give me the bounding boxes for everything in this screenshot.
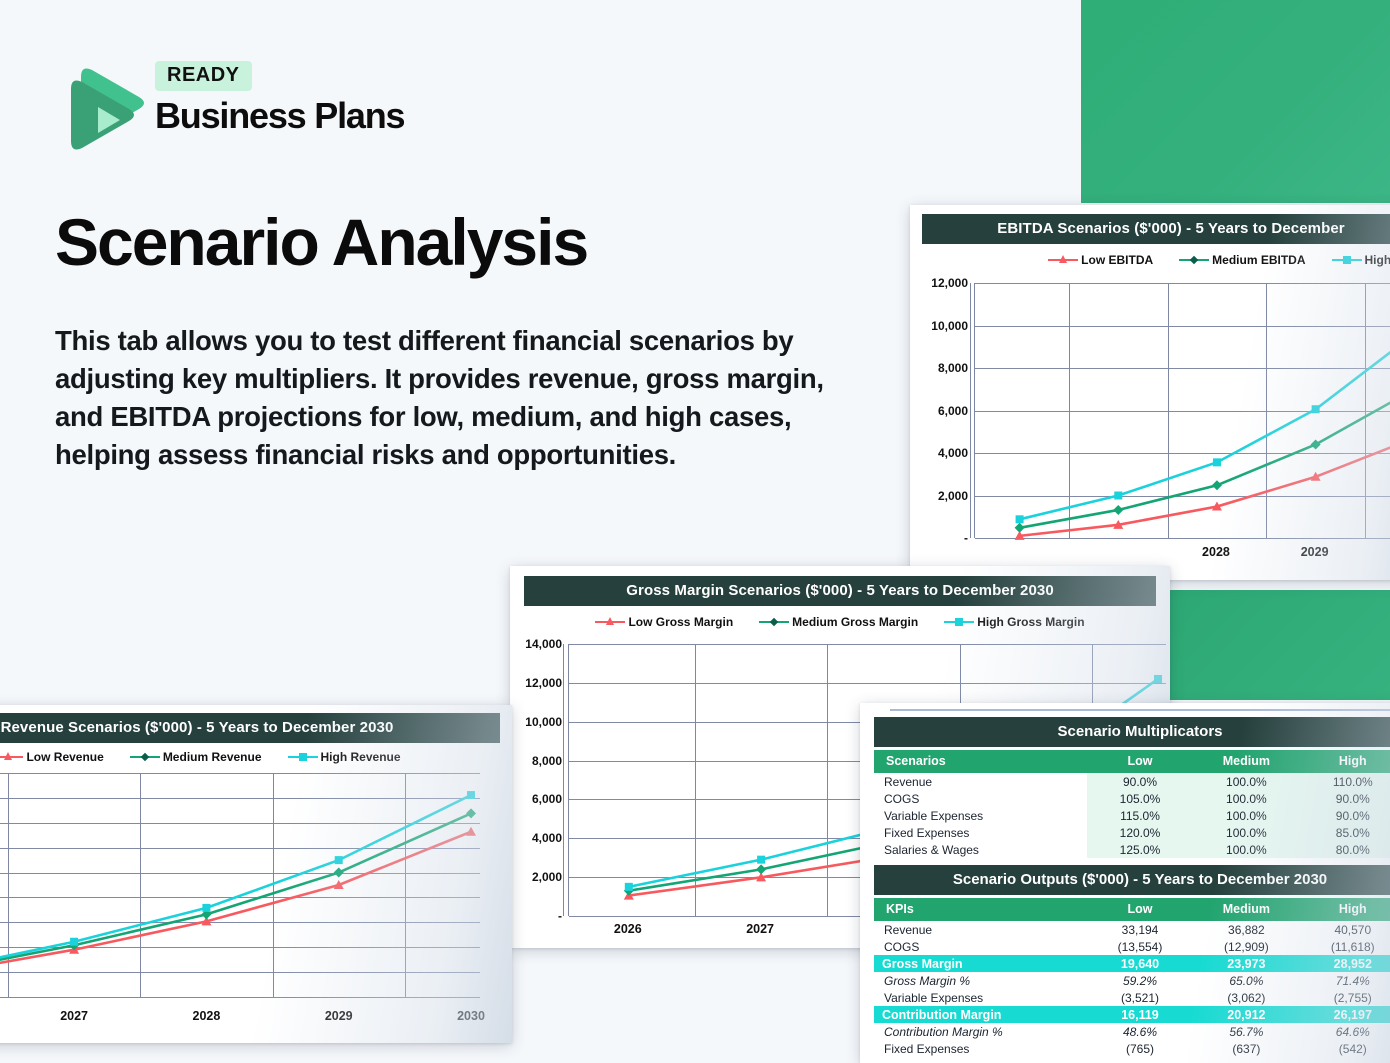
row-label: COGS	[874, 790, 1087, 807]
data-point-marker	[70, 938, 78, 946]
table-row: Gross Margin19,64023,97328,952	[874, 955, 1390, 972]
cell-high: 26,197	[1300, 1006, 1390, 1023]
legend-label: Medium EBITDA	[1212, 253, 1305, 267]
legend-marker-square-icon	[1332, 255, 1362, 265]
cell-low: 90.0%	[1087, 773, 1193, 790]
cell-high: 90.0%	[1300, 790, 1390, 807]
y-axis-tick-label: -	[964, 531, 968, 545]
column-header-low: Low	[1087, 750, 1193, 773]
scenario-multiplicators-banner: Scenario Multiplicators	[874, 717, 1390, 747]
y-axis-tick-label: 4,000	[532, 831, 562, 845]
cell-medium: 20,912	[1193, 1006, 1299, 1023]
cell-low: (3,521)	[1087, 989, 1193, 1006]
cell-medium: 65.0%	[1193, 972, 1299, 989]
series-line-square	[1020, 334, 1390, 519]
x-axis-tick-label: 2027	[746, 922, 774, 936]
column-header-medium: Medium	[1193, 898, 1299, 921]
revenue-plot-area	[0, 773, 480, 997]
cell-low: 125.0%	[1087, 841, 1193, 858]
ebitda-chart-card[interactable]: EBITDA Scenarios ($'000) - 5 Years to De…	[910, 205, 1390, 580]
ebitda-chart-title: EBITDA Scenarios ($'000) - 5 Years to De…	[922, 214, 1390, 244]
gross-margin-y-axis-labels: -2,0004,0006,0008,00010,00012,00014,000	[510, 644, 562, 916]
ebitda-plot-area	[974, 283, 1390, 538]
data-point-marker	[1311, 440, 1321, 450]
scenario-outputs-banner: Scenario Outputs ($'000) - 5 Years to De…	[874, 865, 1390, 895]
ready-badge: READY	[155, 61, 252, 91]
data-point-marker	[756, 864, 766, 874]
cell-high: 80.0%	[1300, 841, 1390, 858]
y-axis-tick-label: 2,000	[532, 870, 562, 884]
cell-medium: 100.0%	[1193, 807, 1299, 824]
column-header-medium: Medium	[1193, 750, 1299, 773]
cell-high: 85.0%	[1300, 824, 1390, 841]
legend-label: Low Revenue	[26, 750, 103, 764]
data-point-marker	[334, 868, 344, 878]
row-label: Revenue	[874, 773, 1087, 790]
data-point-marker	[625, 883, 633, 891]
table-row: Variable Expenses(3,521)(3,062)(2,755)	[874, 989, 1390, 1006]
data-point-marker	[466, 827, 476, 836]
x-axis-tick-label: 2029	[325, 1009, 353, 1023]
legend-item-high-revenue: High Revenue	[288, 750, 401, 764]
data-point-marker	[1312, 405, 1320, 413]
table-row: Variable Expenses115.0%100.0%90.0%	[874, 807, 1390, 824]
legend-label: High Revenue	[321, 750, 401, 764]
y-axis-tick-label: 10,000	[931, 319, 968, 333]
x-axis-tick-label: 2029	[1301, 545, 1329, 559]
cell-medium: (3,062)	[1193, 989, 1299, 1006]
chart-series-layer	[0, 773, 480, 997]
legend-label: Low EBITDA	[1081, 253, 1153, 267]
legend-marker-triangle-icon	[595, 617, 625, 627]
legend-label: Medium Gross Margin	[792, 615, 918, 629]
legend-marker-triangle-icon	[1048, 255, 1078, 265]
series-line-diamond	[0, 813, 471, 971]
legend-marker-square-icon	[944, 617, 974, 627]
cell-medium: 36,882	[1193, 921, 1299, 938]
legend-item-medium-revenue: Medium Revenue	[130, 750, 262, 764]
data-point-marker	[1154, 675, 1162, 683]
cell-low: 59.2%	[1087, 972, 1193, 989]
cell-high: 28,952	[1300, 955, 1390, 972]
chart-gridline	[975, 538, 1390, 539]
chart-gridline	[0, 997, 480, 998]
gross-margin-chart-title: Gross Margin Scenarios ($'000) - 5 Years…	[524, 576, 1156, 606]
legend-marker-diamond-icon	[130, 752, 160, 762]
table-row: COGS(13,554)(12,909)(11,618)	[874, 938, 1390, 955]
cell-medium: 100.0%	[1193, 824, 1299, 841]
legend-item-medium-gross-margin: Medium Gross Margin	[759, 615, 918, 629]
revenue-x-axis-labels: 20262027202820292030	[0, 1009, 480, 1029]
y-axis-tick-label: -	[558, 909, 562, 923]
row-label: Gross Margin	[874, 955, 1087, 972]
y-axis-tick-label: 10,000	[525, 715, 562, 729]
cell-high: 90.0%	[1300, 807, 1390, 824]
cell-medium: 56.7%	[1193, 1023, 1299, 1040]
ebitda-plot: -2,0004,0006,0008,00010,00012,000 202820…	[910, 283, 1390, 563]
data-point-marker	[466, 808, 476, 818]
y-axis-tick-label: 14,000	[525, 637, 562, 651]
legend-item-low-gross-margin: Low Gross Margin	[595, 615, 733, 629]
chart-category-divider	[563, 644, 564, 916]
page-description: This tab allows you to test different fi…	[55, 322, 855, 474]
scenario-multiplicators-table: Scenarios Low Medium High Revenue90.0%10…	[874, 750, 1390, 858]
decorative-green-block-mid-right	[1170, 590, 1390, 700]
y-axis-tick-label: 12,000	[525, 676, 562, 690]
scenario-outputs-table: KPIs Low Medium High Revenue33,19436,882…	[874, 898, 1390, 1057]
cell-medium: 100.0%	[1193, 773, 1299, 790]
cell-medium: 100.0%	[1193, 790, 1299, 807]
page-title: Scenario Analysis	[55, 208, 587, 277]
y-axis-tick-label: 4,000	[938, 446, 968, 460]
data-point-marker	[335, 856, 343, 864]
data-point-marker	[1114, 492, 1122, 500]
row-label: Fixed Expenses	[874, 824, 1087, 841]
legend-label: Medium Revenue	[163, 750, 262, 764]
table-row: Contribution Margin16,11920,91226,197	[874, 1006, 1390, 1023]
gross-margin-chart-legend: Low Gross Margin Medium Gross Margin Hig…	[510, 615, 1170, 629]
chart-series-layer	[975, 283, 1390, 538]
table-row: Revenue33,19436,88240,570	[874, 921, 1390, 938]
revenue-chart-card[interactable]: Revenue Scenarios ($'000) - 5 Years to D…	[0, 705, 512, 1043]
row-label: Contribution Margin %	[874, 1023, 1087, 1040]
legend-marker-square-icon	[288, 752, 318, 762]
x-axis-tick-label: 2028	[193, 1009, 221, 1023]
cell-high: 71.4%	[1300, 972, 1390, 989]
cell-high: 40,570	[1300, 921, 1390, 938]
row-label: Gross Margin %	[874, 972, 1087, 989]
x-axis-tick-label: 2028	[1202, 545, 1230, 559]
cell-medium: (12,909)	[1193, 938, 1299, 955]
data-point-marker	[1016, 515, 1024, 523]
y-axis-tick-label: 6,000	[532, 792, 562, 806]
row-label: Contribution Margin	[874, 1006, 1087, 1023]
legend-item-low-ebitda: Low EBITDA	[1048, 253, 1153, 267]
cell-high: 110.0%	[1300, 773, 1390, 790]
legend-label: High Gross Margin	[977, 615, 1084, 629]
row-label: Salaries & Wages	[874, 841, 1087, 858]
data-point-marker	[467, 791, 475, 799]
data-point-marker	[1015, 523, 1025, 533]
y-axis-tick-label: 8,000	[532, 754, 562, 768]
ebitda-x-axis-labels: 20282029	[974, 545, 1390, 565]
column-header-kpis: KPIs	[874, 898, 1087, 921]
table-header-row: Scenarios Low Medium High	[874, 750, 1390, 773]
data-point-marker	[202, 904, 210, 912]
legend-marker-diamond-icon	[1179, 255, 1209, 265]
revenue-chart-title: Revenue Scenarios ($'000) - 5 Years to D…	[0, 713, 500, 743]
play-triangle-logo-icon	[55, 55, 147, 155]
legend-label: High EBIT	[1365, 253, 1390, 267]
row-label: COGS	[874, 938, 1087, 955]
cell-low: 48.6%	[1087, 1023, 1193, 1040]
data-point-marker	[1213, 458, 1221, 466]
column-header-high: High	[1300, 898, 1390, 921]
cell-medium: 23,973	[1193, 955, 1299, 972]
cell-low: 16,119	[1087, 1006, 1193, 1023]
data-point-marker	[1212, 480, 1222, 490]
x-axis-tick-label: 2030	[457, 1009, 485, 1023]
scenario-tables-card[interactable]: Scenario Multiplicators Scenarios Low Me…	[860, 703, 1390, 1063]
column-header-high: High	[1300, 750, 1390, 773]
cell-high: 64.6%	[1300, 1023, 1390, 1040]
chart-category-divider	[970, 283, 971, 538]
legend-marker-triangle-icon	[0, 752, 23, 762]
cell-medium: 100.0%	[1193, 841, 1299, 858]
table-row: Fixed Expenses120.0%100.0%85.0%	[874, 824, 1390, 841]
revenue-plot: 20262027202820292030	[0, 773, 512, 1043]
legend-item-high-ebitda: High EBIT	[1332, 253, 1390, 267]
y-axis-tick-label: 12,000	[931, 276, 968, 290]
legend-item-low-revenue: Low Revenue	[0, 750, 104, 764]
y-axis-tick-label: 8,000	[938, 361, 968, 375]
ebitda-chart-legend: Low EBITDA Medium EBITDA High EBIT	[910, 253, 1390, 267]
cell-low: 105.0%	[1087, 790, 1193, 807]
table-header-row: KPIs Low Medium High	[874, 898, 1390, 921]
table-row: Contribution Margin %48.6%56.7%64.6%	[874, 1023, 1390, 1040]
cell-low: 115.0%	[1087, 807, 1193, 824]
decorative-green-block-top-right	[1081, 0, 1390, 203]
cell-low: 19,640	[1087, 955, 1193, 972]
x-axis-tick-label: 2027	[60, 1009, 88, 1023]
ebitda-y-axis-labels: -2,0004,0006,0008,00010,00012,000	[910, 283, 968, 538]
legend-marker-diamond-icon	[759, 617, 789, 627]
column-header-low: Low	[1087, 898, 1193, 921]
cell-high: (2,755)	[1300, 989, 1390, 1006]
row-label: Variable Expenses	[874, 807, 1087, 824]
table-row: Salaries & Wages125.0%100.0%80.0%	[874, 841, 1390, 858]
brand-name: Business Plans	[155, 95, 404, 137]
x-axis-tick-label: 2026	[614, 922, 642, 936]
data-point-marker	[757, 856, 765, 864]
brand-logo: READY Business Plans	[55, 55, 435, 160]
revenue-chart-legend: Low Revenue Medium Revenue High Revenue	[0, 750, 512, 764]
column-header-scenarios: Scenarios	[874, 750, 1087, 773]
data-point-marker	[1113, 505, 1123, 515]
table-row: COGS105.0%100.0%90.0%	[874, 790, 1390, 807]
cell-low: 120.0%	[1087, 824, 1193, 841]
legend-label: Low Gross Margin	[628, 615, 733, 629]
legend-item-medium-ebitda: Medium EBITDA	[1179, 253, 1305, 267]
row-label: Revenue	[874, 921, 1087, 938]
table-row: Revenue90.0%100.0%110.0%	[874, 773, 1390, 790]
cell-low: 33,194	[1087, 921, 1193, 938]
y-axis-tick-label: 6,000	[938, 404, 968, 418]
table-row: Gross Margin %59.2%65.0%71.4%	[874, 972, 1390, 989]
row-label: Variable Expenses	[874, 989, 1087, 1006]
y-axis-tick-label: 2,000	[938, 489, 968, 503]
cell-low: (13,554)	[1087, 938, 1193, 955]
legend-item-high-gross-margin: High Gross Margin	[944, 615, 1084, 629]
cell-high: (11,618)	[1300, 938, 1390, 955]
